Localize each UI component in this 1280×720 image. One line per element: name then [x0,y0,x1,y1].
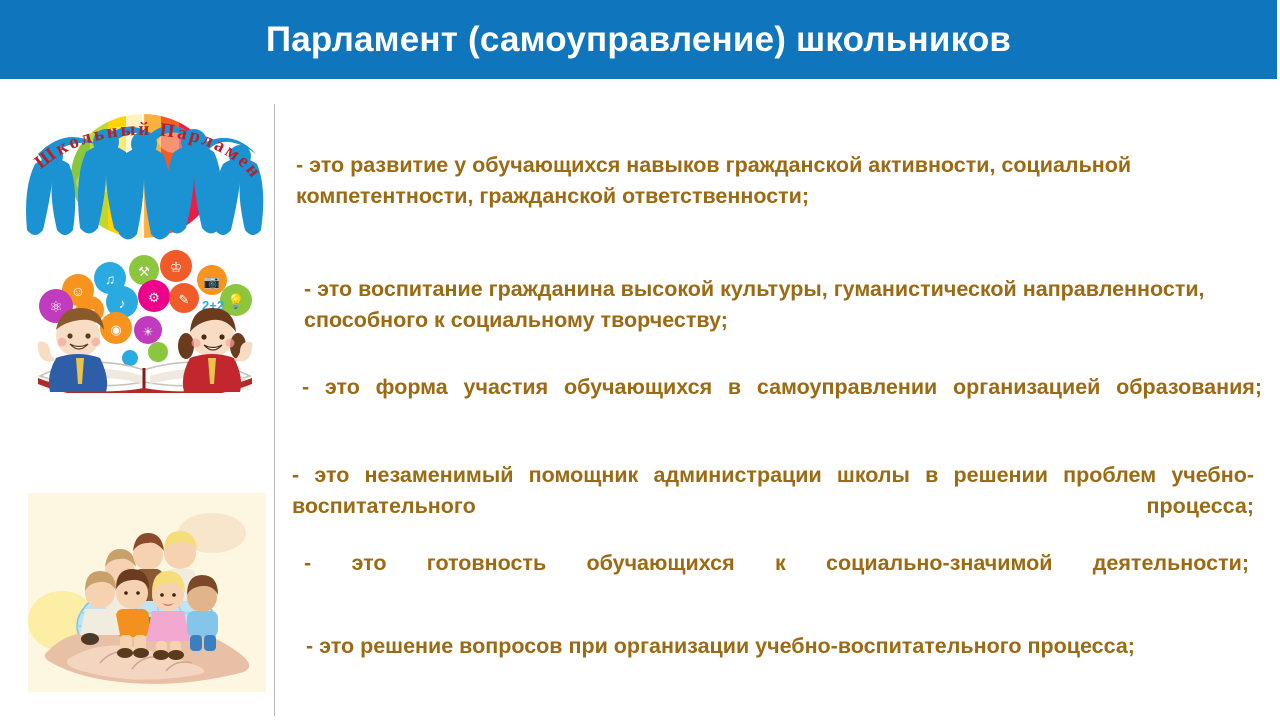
svg-text:♔: ♔ [170,259,183,275]
svg-text:⚛: ⚛ [49,299,62,316]
statements-column: - это развитие у обучающихся навыков гра… [290,82,1265,720]
parliament-logo-image: Школьный Парламент [12,98,274,240]
slide-title: Парламент (самоуправление) школьников [266,20,1011,60]
statement-item: - это воспитание гражданина высокой куль… [304,274,1244,336]
svg-text:♪: ♪ [119,295,126,311]
svg-text:💡: 💡 [227,293,244,310]
kids-with-book-image: ☺ ♫ ⚒ ♔ 📷 💡 ⚛ ☛ ♪ ⚙ ✎ ◉ ☀ 2+2 [26,248,266,393]
title-banner: Парламент (самоуправление) школьников [0,0,1277,79]
statement-item: - это готовность обучающихся к социально… [304,548,1249,610]
svg-text:◉: ◉ [110,322,121,337]
svg-text:☀: ☀ [143,325,154,339]
statement-item: - это решение вопросов при организации у… [306,631,1256,662]
statement-item: - это развитие у обучающихся навыков гра… [296,150,1241,212]
statement-item: - это незаменимый помощник администрации… [292,460,1254,553]
svg-text:♫: ♫ [105,271,116,287]
children-on-globe-image [28,493,266,692]
svg-text:✎: ✎ [179,292,190,307]
column-divider [274,104,275,716]
svg-text:📷: 📷 [204,274,220,289]
svg-text:⚙: ⚙ [148,290,160,305]
statement-item: - это форма участия обучающихся в самоуп… [302,372,1262,434]
svg-text:⚒: ⚒ [138,264,150,279]
svg-text:☺: ☺ [71,283,85,299]
